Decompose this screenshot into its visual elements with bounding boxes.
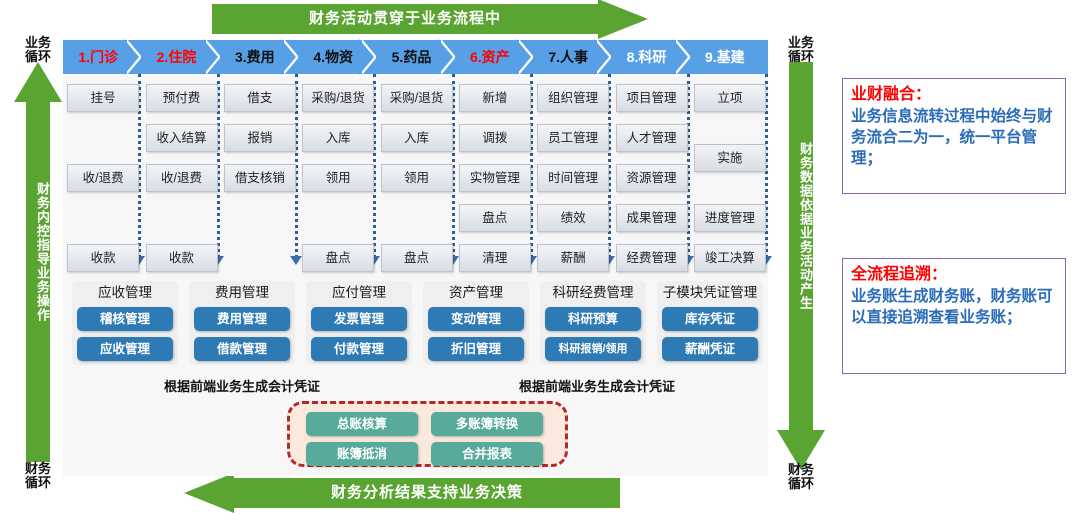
process-header-label: 9.基建 [705,47,753,67]
note-card-traceability: 全流程追溯： 业务账生成财务账，财务账可以直接追溯查看业务账； [842,258,1066,374]
process-header-label: 1.门诊 [78,47,126,67]
process-header-label: 7.人事 [548,47,596,67]
voucher-generation-label: 根据前端业务生成会计凭证 [92,378,392,396]
voucher-generation-label: 根据前端业务生成会计凭证 [437,378,757,396]
note-1-title: 业财融合： [851,84,1057,106]
process-header-label: 8.科研 [627,47,675,67]
note-1-body: 业务信息流转过程中始终与财务流合二为一，统一平台管理； [851,106,1057,169]
diagram-canvas: 财务活动贯穿于业务流程中 财务分析结果支持业务决策 业务循环 财务内控指导业务操… [0,0,1080,522]
process-header-label: 3.费用 [235,47,283,67]
process-header-label: 2.住院 [157,47,205,67]
process-header-label: 6.资产 [470,47,518,67]
note-2-title: 全流程追溯： [851,264,1057,286]
ledger-button[interactable]: 多账簿转换 [431,412,543,436]
ledger-accounting-group: 总账核算多账簿转换账簿抵消合并报表 [287,401,568,467]
note-2-body: 业务账生成财务账，财务账可以直接追溯查看业务账； [851,286,1057,328]
note-card-integration: 业财融合： 业务信息流转过程中始终与财务流合二为一，统一平台管理； [842,78,1066,194]
process-header-label: 5.药品 [392,47,440,67]
ledger-button[interactable]: 账簿抵消 [306,442,418,466]
ledger-button[interactable]: 合并报表 [431,442,543,466]
ledger-button[interactable]: 总账核算 [306,412,418,436]
process-header-label: 4.物资 [313,47,361,67]
